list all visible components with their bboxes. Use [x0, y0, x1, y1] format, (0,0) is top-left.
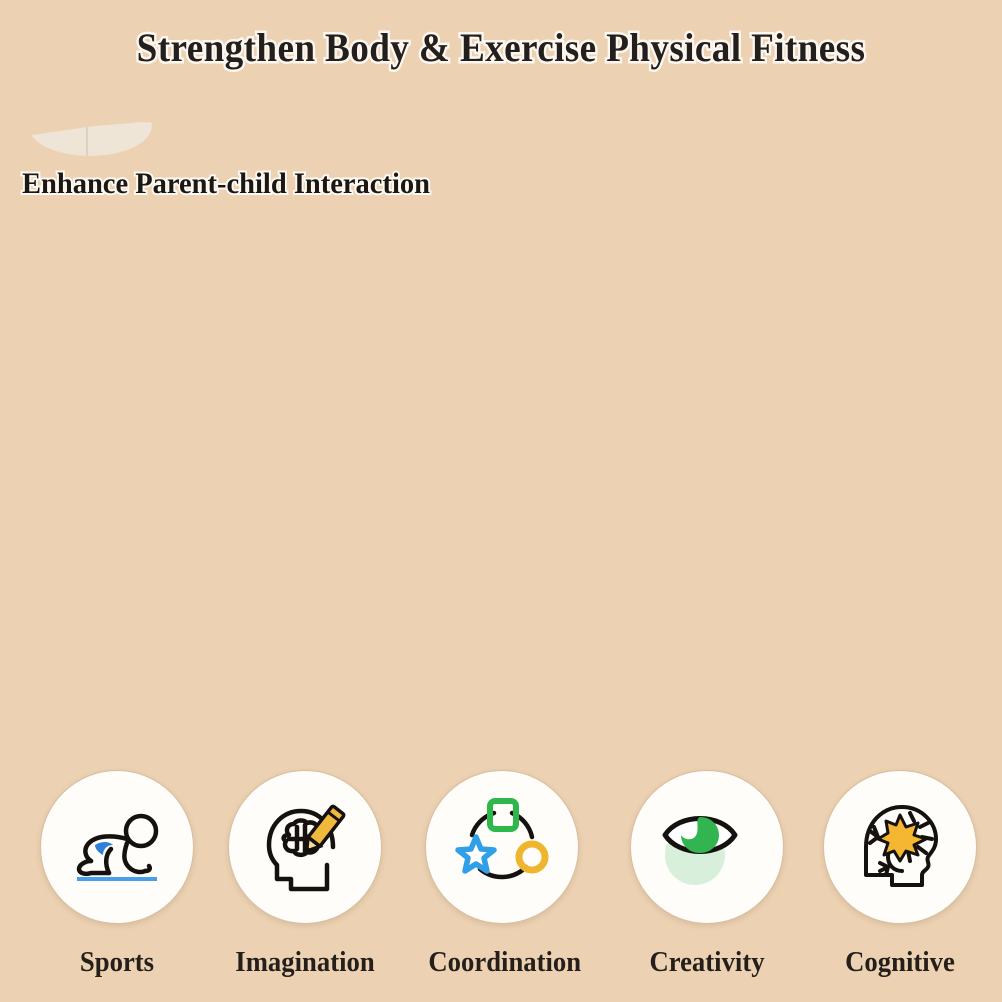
feature-list: Sports Imaginati [0, 770, 1002, 1002]
feature-icon-circle [630, 770, 784, 924]
feature-icon-circle [40, 770, 194, 924]
lifestyle-photo [0, 96, 1002, 826]
feature-icon-circle [228, 770, 382, 924]
potted-plant-icon [216, 292, 268, 330]
head-brain-pencil-icon [249, 791, 361, 903]
feature-item-cognitive[interactable]: Cognitive [820, 770, 980, 979]
page-title: Strengthen Body & Exercise Physical Fitn… [35, 24, 967, 71]
feature-label: Coordination [428, 946, 575, 979]
wall-seam [86, 96, 88, 396]
feature-icon-circle [425, 770, 579, 924]
feature-item-creativity[interactable]: Creativity [627, 770, 787, 979]
feature-item-imagination[interactable]: Imagination [225, 770, 385, 979]
foam-block-green [676, 530, 774, 662]
feature-label: Cognitive [826, 946, 973, 979]
feature-label: Creativity [633, 946, 780, 979]
snack-bread-2 [306, 322, 336, 337]
play-mat-heart [239, 654, 294, 705]
feature-label: Sports [43, 946, 190, 979]
feature-icon-circle [823, 770, 977, 924]
page-subtitle: Enhance Parent-child Interaction [22, 167, 430, 201]
crawling-baby-icon [61, 791, 173, 903]
eye-icon [651, 791, 763, 903]
feature-item-sports[interactable]: Sports [37, 770, 197, 979]
foam-block-blue [572, 518, 682, 658]
poster-stage: Strengthen Body & Exercise Physical Fitn… [0, 0, 1002, 1002]
head-spark-icon [844, 791, 956, 903]
feature-item-coordination[interactable]: Coordination [422, 770, 582, 979]
feature-label: Imagination [231, 946, 378, 979]
wall-seam-2 [300, 96, 302, 346]
shapes-circle-icon [446, 791, 558, 903]
